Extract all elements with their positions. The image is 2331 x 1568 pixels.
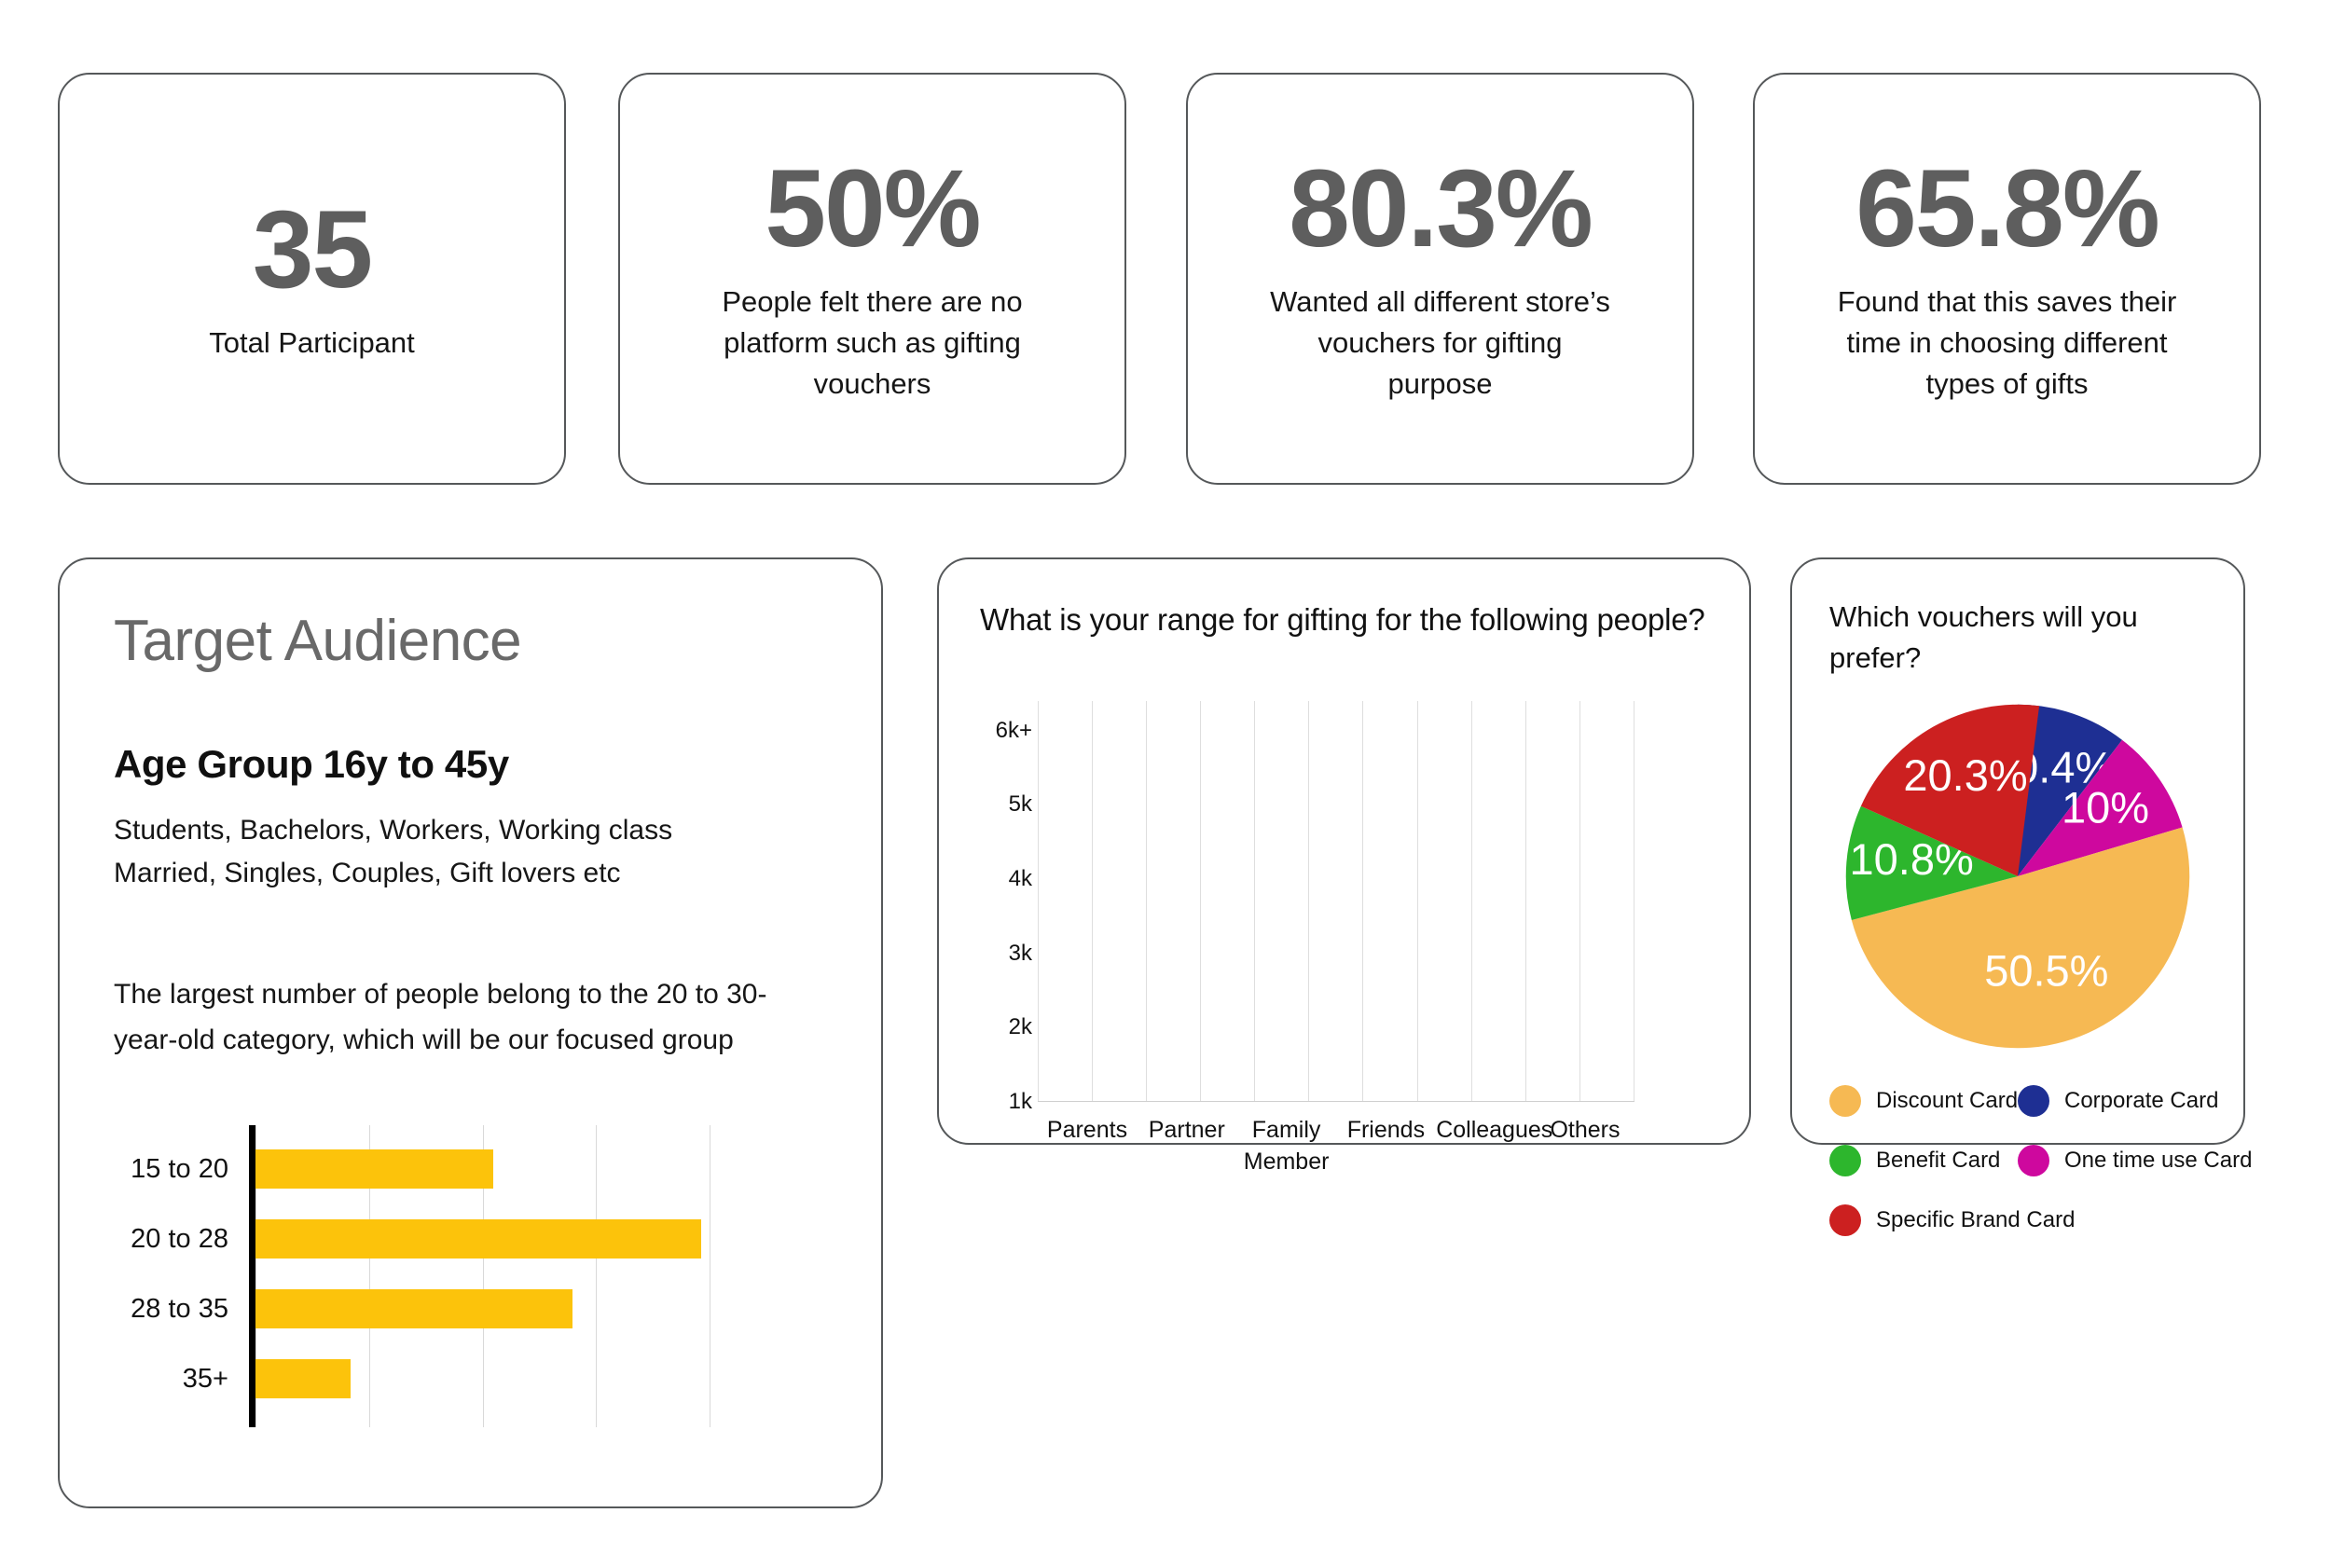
legend-color-dot — [1829, 1145, 1861, 1176]
legend-color-dot — [2018, 1145, 2049, 1176]
hbar-fill — [249, 1289, 572, 1328]
legend-item[interactable]: One time use Card — [2018, 1145, 2206, 1176]
bar-chart-plot: 6k+5k4k3k2k1k ParentsPartnerFamily Membe… — [1038, 701, 1634, 1102]
bar-chart-y-tick: 6k+ — [996, 718, 1032, 744]
legend-label: Specific Brand Card — [1876, 1207, 2075, 1233]
hbar-y-axis-line — [249, 1125, 255, 1427]
target-audience-card: Target Audience Age Group 16y to 45y Stu… — [58, 557, 883, 1508]
voucher-preference-card: Which vouchers will you prefer? 10.4%10%… — [1790, 557, 2245, 1145]
legend-item[interactable]: Corporate Card — [2018, 1085, 2206, 1117]
stat-value: 50% — [765, 153, 979, 265]
bar-chart-y-tick: 3k — [1009, 941, 1032, 967]
hbar-category-label: 35+ — [114, 1364, 249, 1395]
pie-chart-title: Which vouchers will you prefer? — [1829, 597, 2206, 679]
hbar-fill — [249, 1219, 701, 1259]
hbar-track — [249, 1344, 710, 1414]
age-group-heading: Age Group 16y to 45y — [114, 742, 827, 787]
legend-label: One time use Card — [2064, 1148, 2252, 1174]
legend-color-dot — [1829, 1085, 1861, 1117]
legend-item[interactable]: Benefit Card — [1829, 1145, 2018, 1176]
stat-label: Found that this saves their time in choo… — [1830, 282, 2185, 405]
legend-item[interactable]: Specific Brand Card — [1829, 1204, 2018, 1236]
bar-chart-x-label: Family Member — [1237, 1115, 1336, 1178]
hbar-row: 35+ — [114, 1344, 710, 1414]
pie-chart: 10.4%10%50.5%10.8%20.3% — [1842, 701, 2193, 1052]
legend-label: Benefit Card — [1876, 1148, 2000, 1174]
pie-slice-percent-label: 10% — [2062, 783, 2149, 832]
bar-chart-y-tick: 4k — [1009, 866, 1032, 892]
legend-color-dot — [1829, 1204, 1861, 1236]
bar-chart-x-label: Partner — [1138, 1115, 1236, 1178]
hbar-row: 20 to 28 — [114, 1204, 710, 1274]
stat-value: 35 — [253, 194, 371, 306]
legend-item[interactable]: Discount Card — [1829, 1085, 2018, 1117]
bar-chart-x-label: Parents — [1038, 1115, 1137, 1178]
focus-group-note: The largest number of people belong to t… — [114, 972, 827, 1063]
hbar-category-label: 28 to 35 — [114, 1294, 249, 1325]
stat-card-no-platform: 50% People felt there are no platform su… — [618, 73, 1126, 485]
hbar-track — [249, 1135, 710, 1204]
bar-chart-x-label: Colleagues — [1436, 1115, 1535, 1178]
age-distribution-bar-chart: 15 to 2020 to 2828 to 3535+ — [114, 1135, 710, 1414]
target-audience-title: Target Audience — [114, 610, 827, 673]
bar-chart-y-axis: 6k+5k4k3k2k1k — [980, 701, 1032, 1102]
hbar-fill — [249, 1359, 351, 1398]
pie-slice-percent-label: 20.3% — [1903, 750, 2027, 800]
dashboard-canvas: 35 Total Participant 50% People felt the… — [0, 0, 2331, 1568]
bar-chart-x-labels: ParentsPartnerFamily MemberFriendsCollea… — [1038, 1115, 1634, 1178]
bar-chart-x-label: Others — [1536, 1115, 1634, 1178]
audience-descriptor-line-1: Students, Bachelors, Workers, Working cl… — [114, 809, 827, 852]
bar-chart-y-tick: 2k — [1009, 1014, 1032, 1040]
stat-value: 65.8% — [1855, 153, 2159, 265]
bar-chart-bars — [1038, 701, 1634, 1102]
audience-descriptor-line-2: Married, Singles, Couples, Gift lovers e… — [114, 852, 827, 895]
hbar-category-label: 15 to 20 — [114, 1154, 249, 1185]
legend-color-dot — [2018, 1085, 2049, 1117]
stat-label: Wanted all different store’s vouchers fo… — [1263, 282, 1618, 405]
hbar-track — [249, 1274, 710, 1344]
hbar-row: 28 to 35 — [114, 1274, 710, 1344]
bar-chart-y-tick: 1k — [1009, 1089, 1032, 1115]
hbar-row: 15 to 20 — [114, 1135, 710, 1204]
stat-label: Total Participant — [209, 323, 415, 364]
stat-card-all-store-vouchers: 80.3% Wanted all different store’s vouch… — [1186, 73, 1694, 485]
stat-card-total-participant: 35 Total Participant — [58, 73, 566, 485]
bar-chart-x-label: Friends — [1336, 1115, 1435, 1178]
stat-label: People felt there are no platform such a… — [696, 282, 1050, 405]
gifting-range-chart-card: What is your range for gifting for the f… — [937, 557, 1751, 1145]
bar-chart-title: What is your range for gifting for the f… — [980, 602, 1708, 638]
legend-label: Corporate Card — [2064, 1088, 2218, 1114]
legend-label: Discount Card — [1876, 1088, 2018, 1114]
audience-descriptors: Students, Bachelors, Workers, Working cl… — [114, 809, 827, 894]
hbar-category-label: 20 to 28 — [114, 1224, 249, 1255]
pie-chart-legend: Discount CardCorporate CardBenefit CardO… — [1829, 1085, 2206, 1264]
hbar-rows: 15 to 2020 to 2828 to 3535+ — [114, 1135, 710, 1414]
pie-slice-percent-label: 50.5% — [1984, 946, 2108, 996]
hbar-track — [249, 1204, 710, 1274]
bar-chart-y-tick: 5k — [1009, 791, 1032, 818]
stat-card-saves-time: 65.8% Found that this saves their time i… — [1753, 73, 2261, 485]
hbar-fill — [249, 1149, 493, 1189]
stat-value: 80.3% — [1289, 153, 1592, 265]
pie-chart-svg: 10.4%10%50.5%10.8%20.3% — [1842, 701, 2193, 1052]
